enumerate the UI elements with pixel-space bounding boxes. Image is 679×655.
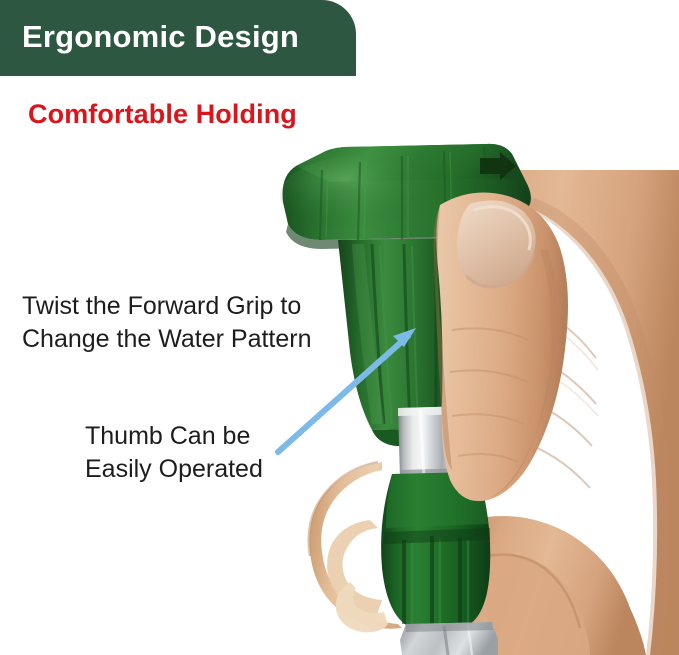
callout-twist-forward-grip: Twist the Forward Grip to Change the Wat… <box>22 290 312 356</box>
header-banner: Ergonomic Design <box>0 0 356 76</box>
subtitle-comfortable-holding: Comfortable Holding <box>28 99 297 130</box>
product-feature-image: Ergonomic Design Comfortable Holding Twi… <box>0 0 679 655</box>
page-title: Ergonomic Design <box>22 19 299 55</box>
callout-thumb-easily-operated: Thumb Can be Easily Operated <box>85 420 263 486</box>
